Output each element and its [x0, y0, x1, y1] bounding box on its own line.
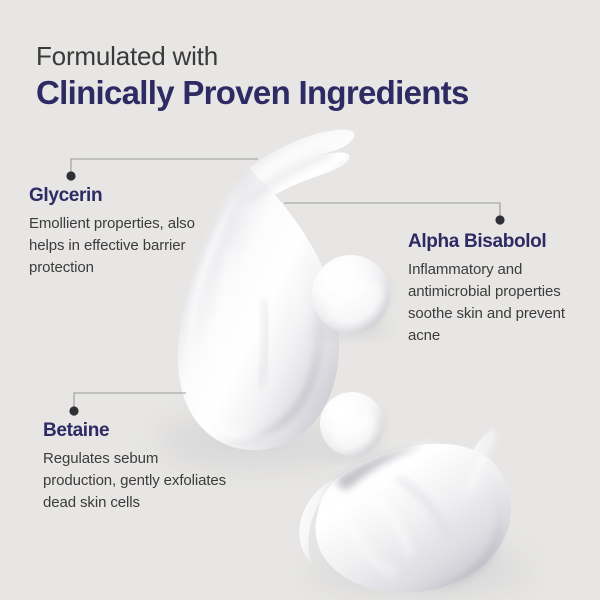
leader-line-alpha: [284, 203, 500, 219]
leader-dot-betaine: [69, 406, 78, 415]
leader-dot-alpha: [495, 215, 504, 224]
leader-lines: [0, 0, 600, 600]
leader-dot-glycerin: [66, 171, 75, 180]
leader-line-glycerin: [71, 159, 258, 176]
leader-line-betaine: [74, 393, 186, 411]
infographic-canvas: Formulated with Clinically Proven Ingred…: [0, 0, 600, 600]
